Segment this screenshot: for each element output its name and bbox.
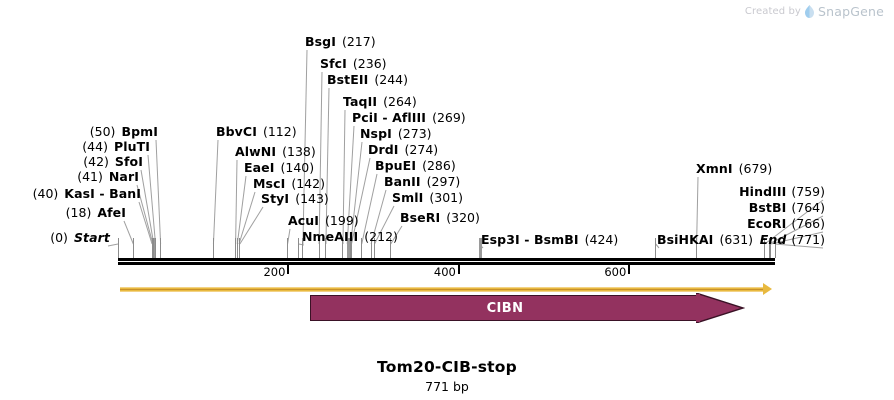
leader-line-styi [240, 207, 263, 244]
site-position-banii: (297) [427, 174, 461, 189]
site-position-nmeaiii: (212) [364, 229, 398, 244]
site-position-pcii-afliii: (269) [432, 110, 466, 125]
ruler-label-600: 600 [604, 265, 628, 279]
site-enzyme-end: End [760, 232, 787, 247]
site-enzyme-bseri: BseRI [400, 210, 440, 225]
site-enzyme-xmni: XmnI [696, 161, 733, 176]
site-enzyme-pluti: PluTI [114, 139, 150, 154]
site-enzyme-sfci: SfcI [320, 56, 347, 71]
site-tick-bpmi[interactable] [160, 238, 161, 258]
leader-line-pluti [148, 155, 155, 244]
site-label-pluti[interactable]: (44)PluTI [82, 140, 150, 154]
feature-arrow-cibn[interactable]: CIBN [310, 295, 745, 321]
site-tick-pluti[interactable] [155, 238, 156, 258]
construct-name: Tom20-CIB-stop [0, 358, 894, 376]
ruler-label-400: 400 [434, 265, 458, 279]
ruler-tick-600 [628, 265, 630, 274]
site-label-bsihkai[interactable]: BsiHKAI(631) [657, 233, 753, 247]
site-label-hindiii[interactable]: HindIII(759) [739, 185, 825, 199]
leader-line-sfoi [141, 170, 154, 244]
site-label-bstbi[interactable]: BstBI(764) [749, 201, 825, 215]
site-enzyme-sfoi: SfoI [115, 154, 143, 169]
site-position-sfoi: (42) [83, 154, 109, 169]
site-label-sfoi[interactable]: (42)SfoI [83, 155, 143, 169]
leader-line-kasi-bani [139, 202, 152, 244]
snapgene-logo-icon [805, 5, 814, 18]
site-position-bsihkai: (631) [719, 232, 753, 247]
site-position-hindiii: (759) [791, 184, 825, 199]
cibn-label: CIBN [310, 295, 700, 321]
site-position-styi: (143) [295, 191, 329, 206]
site-position-bseri: (320) [446, 210, 480, 225]
site-label-bpmi[interactable]: (50)BpmI [90, 125, 158, 139]
site-position-end: (771) [791, 232, 825, 247]
site-enzyme-bsteii: BstEII [327, 72, 368, 87]
site-position-drdi: (274) [405, 142, 439, 157]
site-position-bsteii: (244) [374, 72, 408, 87]
site-position-start: (0) [50, 230, 68, 245]
orf-arrow-core [120, 289, 765, 290]
site-label-bsteii[interactable]: BstEII(244) [327, 73, 408, 87]
watermark-brand: SnapGene [818, 4, 884, 19]
site-position-afei: (18) [66, 205, 92, 220]
site-enzyme-alwni: AlwNI [235, 144, 276, 159]
site-enzyme-pcii-afliii: PciI - AflIII [352, 110, 426, 125]
site-enzyme-bpuei: BpuEI [375, 158, 416, 173]
site-label-nspi[interactable]: NspI(273) [360, 127, 432, 141]
site-tick-acui[interactable] [287, 238, 288, 258]
site-label-xmni[interactable]: XmnI(679) [696, 162, 772, 176]
site-label-msci[interactable]: MscI(142) [253, 177, 325, 191]
site-enzyme-taqii: TaqII [343, 94, 377, 109]
orf-arrow-head-icon [763, 283, 772, 295]
site-enzyme-acui: AcuI [288, 213, 319, 228]
site-enzyme-styi: StyI [261, 191, 289, 206]
ruler-tick-200 [287, 265, 289, 274]
site-position-acui: (199) [325, 213, 359, 228]
site-label-styi[interactable]: StyI(143) [261, 192, 329, 206]
site-enzyme-eaei: EaeI [244, 160, 275, 175]
site-position-bstbi: (764) [791, 200, 825, 215]
site-position-msci: (142) [291, 176, 325, 191]
watermark-prefix: Created by [745, 6, 801, 17]
site-position-esp3i-bsmbi: (424) [585, 232, 619, 247]
cibn-arrow-head-icon [696, 293, 745, 323]
site-position-smli: (301) [429, 190, 463, 205]
snapgene-watermark: Created by SnapGene [745, 4, 884, 19]
site-label-eaei[interactable]: EaeI(140) [244, 161, 314, 175]
site-position-bpuei: (286) [422, 158, 456, 173]
site-label-taqii[interactable]: TaqII(264) [343, 95, 417, 109]
site-label-bseri[interactable]: BseRI(320) [400, 211, 480, 225]
site-enzyme-bsihkai: BsiHKAI [657, 232, 713, 247]
site-label-nmeaiii[interactable]: NmeAIII(212) [302, 230, 398, 244]
site-position-sfci: (236) [353, 56, 387, 71]
site-label-alwni[interactable]: AlwNI(138) [235, 145, 316, 159]
site-enzyme-nspi: NspI [360, 126, 392, 141]
site-position-taqii: (264) [383, 94, 417, 109]
leader-line-msci [239, 192, 255, 244]
site-position-bbvci: (112) [263, 124, 297, 139]
backbone-line-top [118, 258, 775, 261]
site-tick-bbvci[interactable] [213, 238, 214, 258]
site-position-bpmi: (50) [90, 124, 116, 139]
site-label-bsgi[interactable]: BsgI(217) [305, 35, 376, 49]
ruler-label-200: 200 [263, 265, 287, 279]
site-enzyme-banii: BanII [384, 174, 421, 189]
site-enzyme-hindiii: HindIII [739, 184, 786, 199]
site-enzyme-drdi: DrdI [368, 142, 399, 157]
site-label-sfci[interactable]: SfcI(236) [320, 57, 387, 71]
site-position-ecori: (766) [791, 216, 825, 231]
site-enzyme-smli: SmlI [392, 190, 423, 205]
site-enzyme-nari: NarI [109, 169, 139, 184]
site-position-kasi-bani: (40) [33, 186, 59, 201]
site-tick-afei[interactable] [133, 238, 134, 258]
site-position-nari: (41) [77, 169, 103, 184]
site-enzyme-kasi-bani: KasI - BanI [64, 186, 141, 201]
site-label-bpuei[interactable]: BpuEI(286) [375, 159, 456, 173]
site-label-ecori[interactable]: EcoRI(766) [747, 217, 825, 231]
site-enzyme-msci: MscI [253, 176, 285, 191]
site-label-afei[interactable]: (18)AfeI [66, 206, 126, 220]
site-label-end[interactable]: End(771) [760, 233, 825, 247]
site-enzyme-bsgi: BsgI [305, 34, 336, 49]
leader-line-alwni [236, 160, 237, 244]
site-tick-nmeaiii[interactable] [298, 238, 299, 258]
site-enzyme-bstbi: BstBI [749, 200, 787, 215]
site-label-smli[interactable]: SmlI(301) [392, 191, 463, 205]
site-label-banii[interactable]: BanII(297) [384, 175, 460, 189]
orf-translation-arrow[interactable] [120, 286, 772, 293]
site-enzyme-start: Start [74, 230, 110, 245]
site-enzyme-bbvci: BbvCI [216, 124, 257, 139]
site-label-acui[interactable]: AcuI(199) [288, 214, 359, 228]
leader-line-eaei [237, 176, 246, 244]
site-position-alwni: (138) [282, 144, 316, 159]
site-enzyme-esp3i-bsmbi: Esp3I - BsmBI [481, 232, 579, 247]
site-position-pluti: (44) [82, 139, 108, 154]
site-label-nari[interactable]: (41)NarI [77, 170, 139, 184]
site-label-pcii-afliii[interactable]: PciI - AflIII(269) [352, 111, 466, 125]
site-enzyme-ecori: EcoRI [747, 216, 786, 231]
construct-length: 771 bp [0, 379, 894, 394]
site-label-bbvci[interactable]: BbvCI(112) [216, 125, 297, 139]
site-label-esp3i-bsmbi[interactable]: Esp3I - BsmBI(424) [481, 233, 618, 247]
site-position-bsgi: (217) [342, 34, 376, 49]
leader-line-bpmi [156, 140, 161, 244]
site-enzyme-afei: AfeI [97, 205, 126, 220]
site-enzyme-bpmi: BpmI [121, 124, 158, 139]
map-title-block: Tom20-CIB-stop 771 bp [0, 358, 894, 394]
ruler-tick-400 [458, 265, 460, 274]
site-position-nspi: (273) [398, 126, 432, 141]
leader-line-bbvci [213, 140, 218, 244]
sequence-backbone [118, 258, 775, 265]
site-enzyme-nmeaiii: NmeAIII [302, 229, 358, 244]
site-tick-start[interactable] [118, 238, 119, 258]
site-label-drdi[interactable]: DrdI(274) [368, 143, 438, 157]
site-label-kasi-bani[interactable]: (40)KasI - BanI [33, 187, 141, 201]
site-label-start[interactable]: (0)Start [50, 231, 110, 245]
snapgene-sequence-map: Created by SnapGene 200400600 (0)Start(1… [0, 0, 894, 400]
site-tick-styi[interactable] [239, 238, 240, 258]
site-position-eaei: (140) [281, 160, 315, 175]
orf-arrow-bar [120, 287, 765, 292]
site-position-xmni: (679) [739, 161, 773, 176]
